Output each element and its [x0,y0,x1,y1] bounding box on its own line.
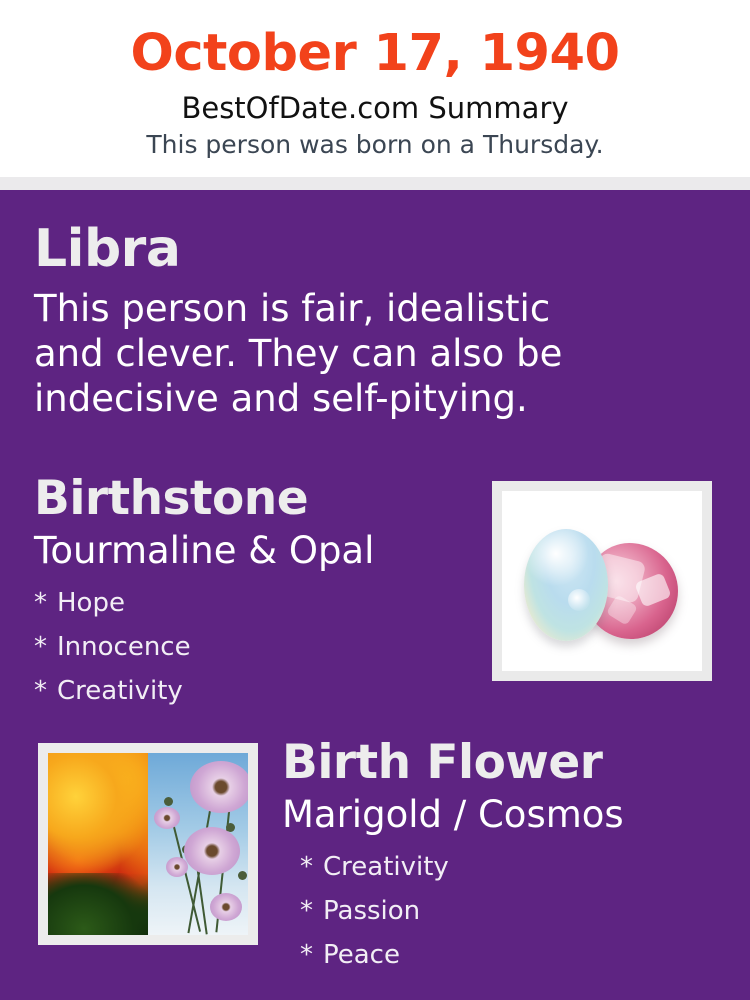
site-summary-label: BestOfDate.com Summary [0,84,750,126]
list-item: *Innocence [34,625,474,669]
bullet-star-icon: * [300,940,313,970]
opal-gemstone-icon [524,529,608,641]
birth-flower-title: Birth Flower [282,735,732,791]
zodiac-section: Libra This person is fair, idealistic an… [34,218,634,421]
zodiac-sign-title: Libra [34,218,634,280]
summary-panel: Libra This person is fair, idealistic an… [0,190,750,1000]
list-item: *Hope [34,581,474,625]
birthstone-image-frame [492,481,712,681]
bullet-star-icon: * [34,588,47,618]
birthstone-section: Birthstone Tourmaline & Opal *Hope *Inno… [34,471,474,713]
birthstone-trait-label: Hope [57,588,125,618]
page-title-date: October 17, 1940 [0,0,750,84]
cosmos-bloom [154,807,180,829]
cosmos-bloom [190,761,248,813]
birthstone-title: Birthstone [34,471,474,527]
birth-flower-image [48,753,248,935]
birthstone-trait-list: *Hope *Innocence *Creativity [34,573,474,713]
birth-flower-trait-label: Peace [323,940,400,970]
birthstone-image [502,491,702,671]
summary-page: October 17, 1940 BestOfDate.com Summary … [0,0,750,1000]
birthstone-names: Tourmaline & Opal [34,527,474,573]
list-item: *Creativity [300,845,732,889]
list-item: *Creativity [34,669,474,713]
birth-flower-names: Marigold / Cosmos [282,791,732,837]
birth-flower-trait-label: Creativity [323,852,449,882]
cosmos-photo-half [148,753,248,935]
birth-flower-trait-list: *Creativity *Passion *Peace [282,837,732,977]
cosmos-bloom [184,827,240,875]
cosmos-bloom [210,893,242,921]
weekday-note: This person was born on a Thursday. [0,126,750,161]
cosmos-bud [238,871,247,880]
bullet-star-icon: * [34,632,47,662]
list-item: *Passion [300,889,732,933]
marigold-foliage [48,873,148,935]
marigold-photo-half [48,753,148,935]
birth-flower-section: Birth Flower Marigold / Cosmos *Creativi… [282,735,732,977]
birth-flower-trait-label: Passion [323,896,420,926]
page-header: October 17, 1940 BestOfDate.com Summary … [0,0,750,177]
list-item: *Peace [300,933,732,977]
birthstone-trait-label: Creativity [57,676,183,706]
header-divider [0,177,750,190]
cosmos-bud [164,797,173,806]
bullet-star-icon: * [300,852,313,882]
zodiac-description: This person is fair, idealistic and clev… [34,280,614,421]
bullet-star-icon: * [300,896,313,926]
bullet-star-icon: * [34,676,47,706]
birth-flower-image-frame [38,743,258,945]
birthstone-trait-label: Innocence [57,632,191,662]
cosmos-bloom [166,857,188,877]
